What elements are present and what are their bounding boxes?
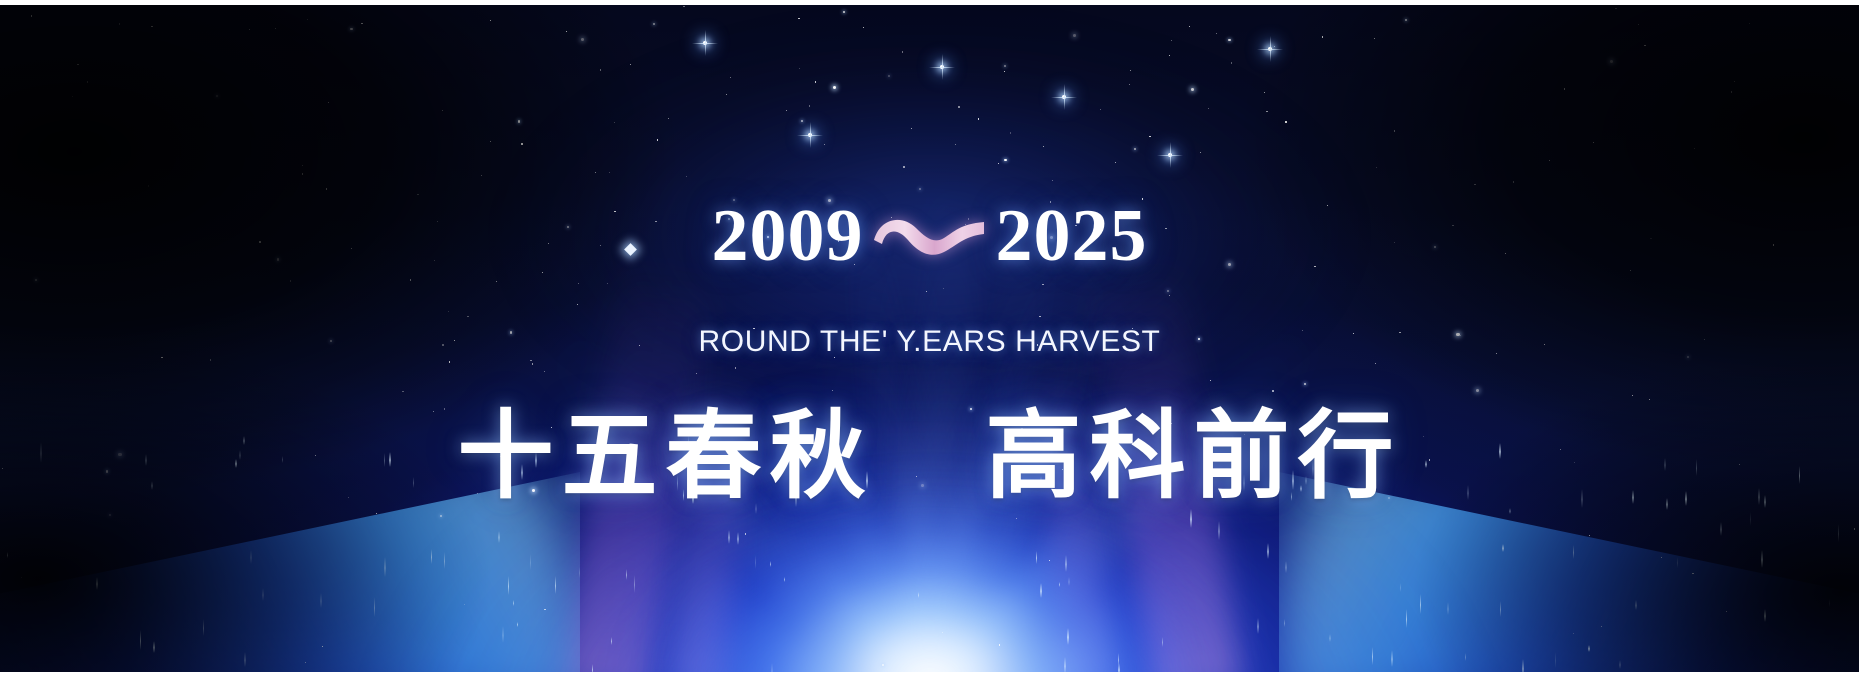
year-start: 2009 xyxy=(712,199,864,273)
banner-subtitle: ROUND THE' Y.EARS HARVEST xyxy=(0,325,1859,359)
banner-headline: 十五春秋 高科前行 xyxy=(0,403,1859,511)
year-end: 2025 xyxy=(996,199,1148,273)
year-range: 2009 xyxy=(0,193,1859,279)
anniversary-banner: 2009 xyxy=(0,0,1859,680)
bottom-white-strip xyxy=(0,672,1859,680)
top-white-strip xyxy=(0,0,1859,5)
headline-phrase-left: 十五春秋 xyxy=(458,403,874,511)
headline-phrase-right: 高科前行 xyxy=(986,403,1402,511)
banner-stage: 2009 xyxy=(0,5,1859,672)
banner-content: 2009 xyxy=(0,5,1859,672)
wave-tilde-icon xyxy=(864,193,996,279)
